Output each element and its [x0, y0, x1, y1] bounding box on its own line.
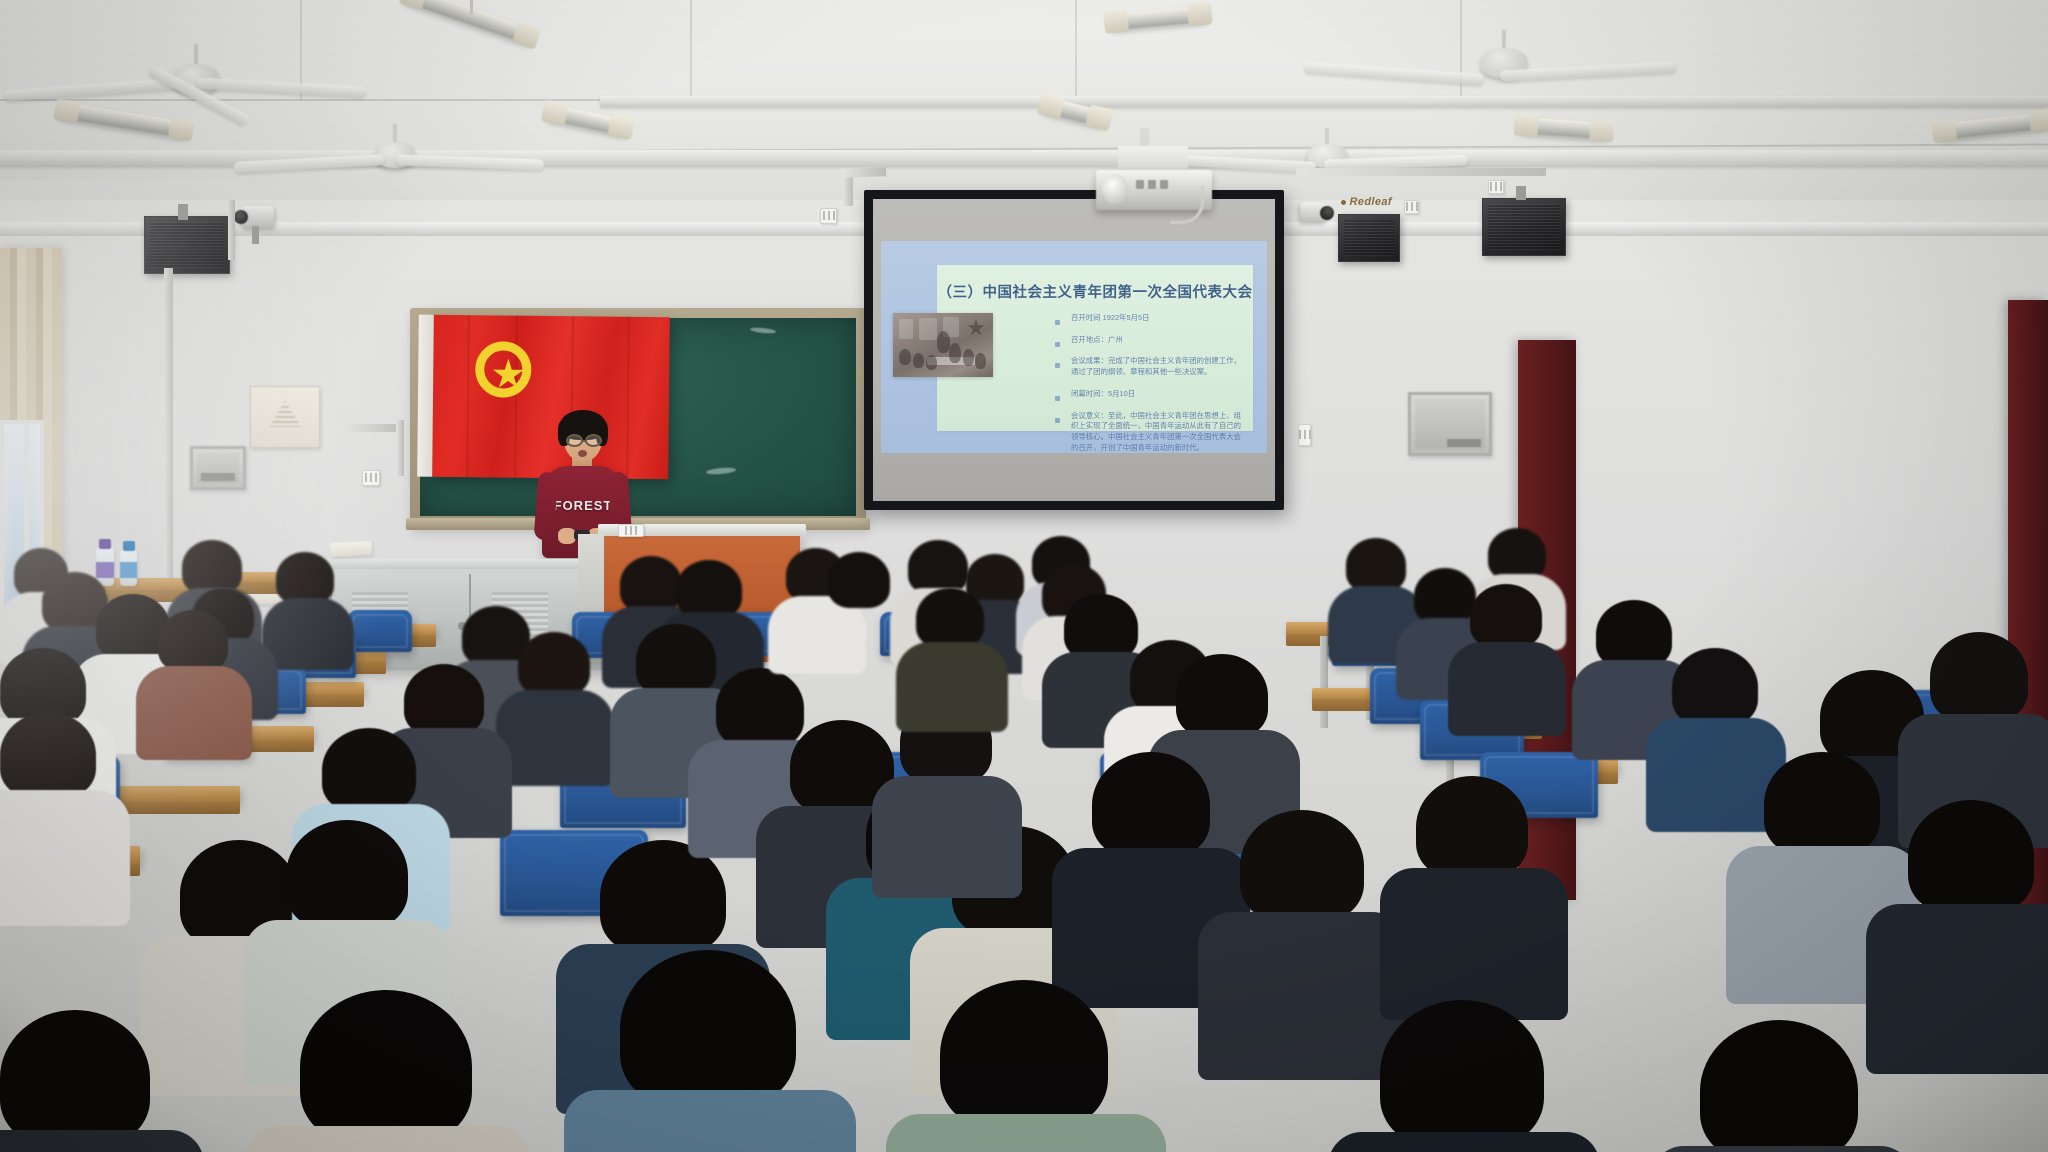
wall-service-panel — [190, 446, 246, 490]
wall-socket — [820, 208, 837, 224]
wall-poster — [250, 386, 320, 448]
ceiling-fan — [1384, 30, 1624, 94]
slide-bullet: 会议成果：完成了中国社会主义青年团的创建工作，通过了团的纲领、章程和其他一些决议… — [1049, 356, 1243, 377]
desk-leg — [1320, 636, 1328, 728]
slide-title: （三）中国社会主义青年团第一次全国代表大会 — [937, 281, 1253, 302]
wall-conduit — [1296, 168, 1546, 176]
ceiling-fan — [300, 124, 490, 180]
wall-speaker — [1338, 214, 1400, 262]
flag-emblem-ring — [475, 341, 532, 398]
ceiling-tile-line — [690, 0, 692, 100]
wall-conduit — [164, 268, 173, 598]
projection-surface: （三）中国社会主义青年团第一次全国代表大会 召开时间 1922年5月5日 召开地… — [873, 199, 1275, 501]
light-rod — [470, 0, 473, 14]
camera-mount — [252, 226, 259, 244]
wall-socket — [1404, 200, 1419, 214]
security-camera — [238, 206, 274, 228]
security-camera — [1300, 202, 1330, 222]
wall-conduit — [340, 424, 402, 432]
wall-socket — [1488, 180, 1504, 194]
water-bottle — [120, 550, 137, 586]
presentation-slide: （三）中国社会主义青年团第一次全国代表大会 召开时间 1922年5月5日 召开地… — [881, 241, 1267, 453]
ceiling-tile-line — [1075, 0, 1077, 100]
classroom-photo: （三）中国社会主义青年团第一次全国代表大会 召开时间 1922年5月5日 召开地… — [0, 0, 2048, 1152]
wall-socket — [362, 470, 380, 486]
papers — [330, 541, 373, 557]
projection-screen: （三）中国社会主义青年团第一次全国代表大会 召开时间 1922年5月5日 召开地… — [864, 190, 1284, 510]
slide-bullet-list: 召开时间 1922年5月5日 召开地点：广州 会议成果：完成了中国社会主义青年团… — [1049, 313, 1243, 465]
wall-service-panel — [1408, 392, 1492, 456]
ceiling-fan — [86, 44, 306, 106]
slide-historical-photo — [893, 313, 993, 377]
wall-conduit — [842, 167, 886, 178]
fluorescent-tube-light — [1520, 117, 1609, 139]
slide-bullet: 召开时间 1922年5月5日 — [1049, 313, 1243, 324]
classroom-chair[interactable] — [348, 610, 412, 652]
wall-socket — [618, 524, 644, 537]
wall-conduit — [228, 200, 235, 260]
flag-star-icon — [492, 358, 524, 390]
wall-speaker — [1482, 198, 1566, 256]
slide-bullet: 会议意义：至此，中国社会主义青年团在思想上、组织上实现了全面统一，中国青年运动从… — [1049, 411, 1243, 454]
brand-dot-icon — [1341, 200, 1346, 205]
wall-socket — [1298, 424, 1311, 446]
speaker-mount — [178, 204, 188, 220]
ceiling-projector — [1096, 146, 1216, 216]
screen-brand-label: Redleaf — [1341, 196, 1392, 208]
speaker-mount — [1516, 186, 1526, 200]
slide-bullet: 召开地点：广州 — [1049, 335, 1243, 346]
wall-speaker — [144, 216, 230, 274]
slide-bullet: 闭幕时间：5月10日 — [1049, 389, 1243, 400]
wall-conduit — [396, 420, 404, 476]
ceiling-beam — [600, 96, 2048, 107]
